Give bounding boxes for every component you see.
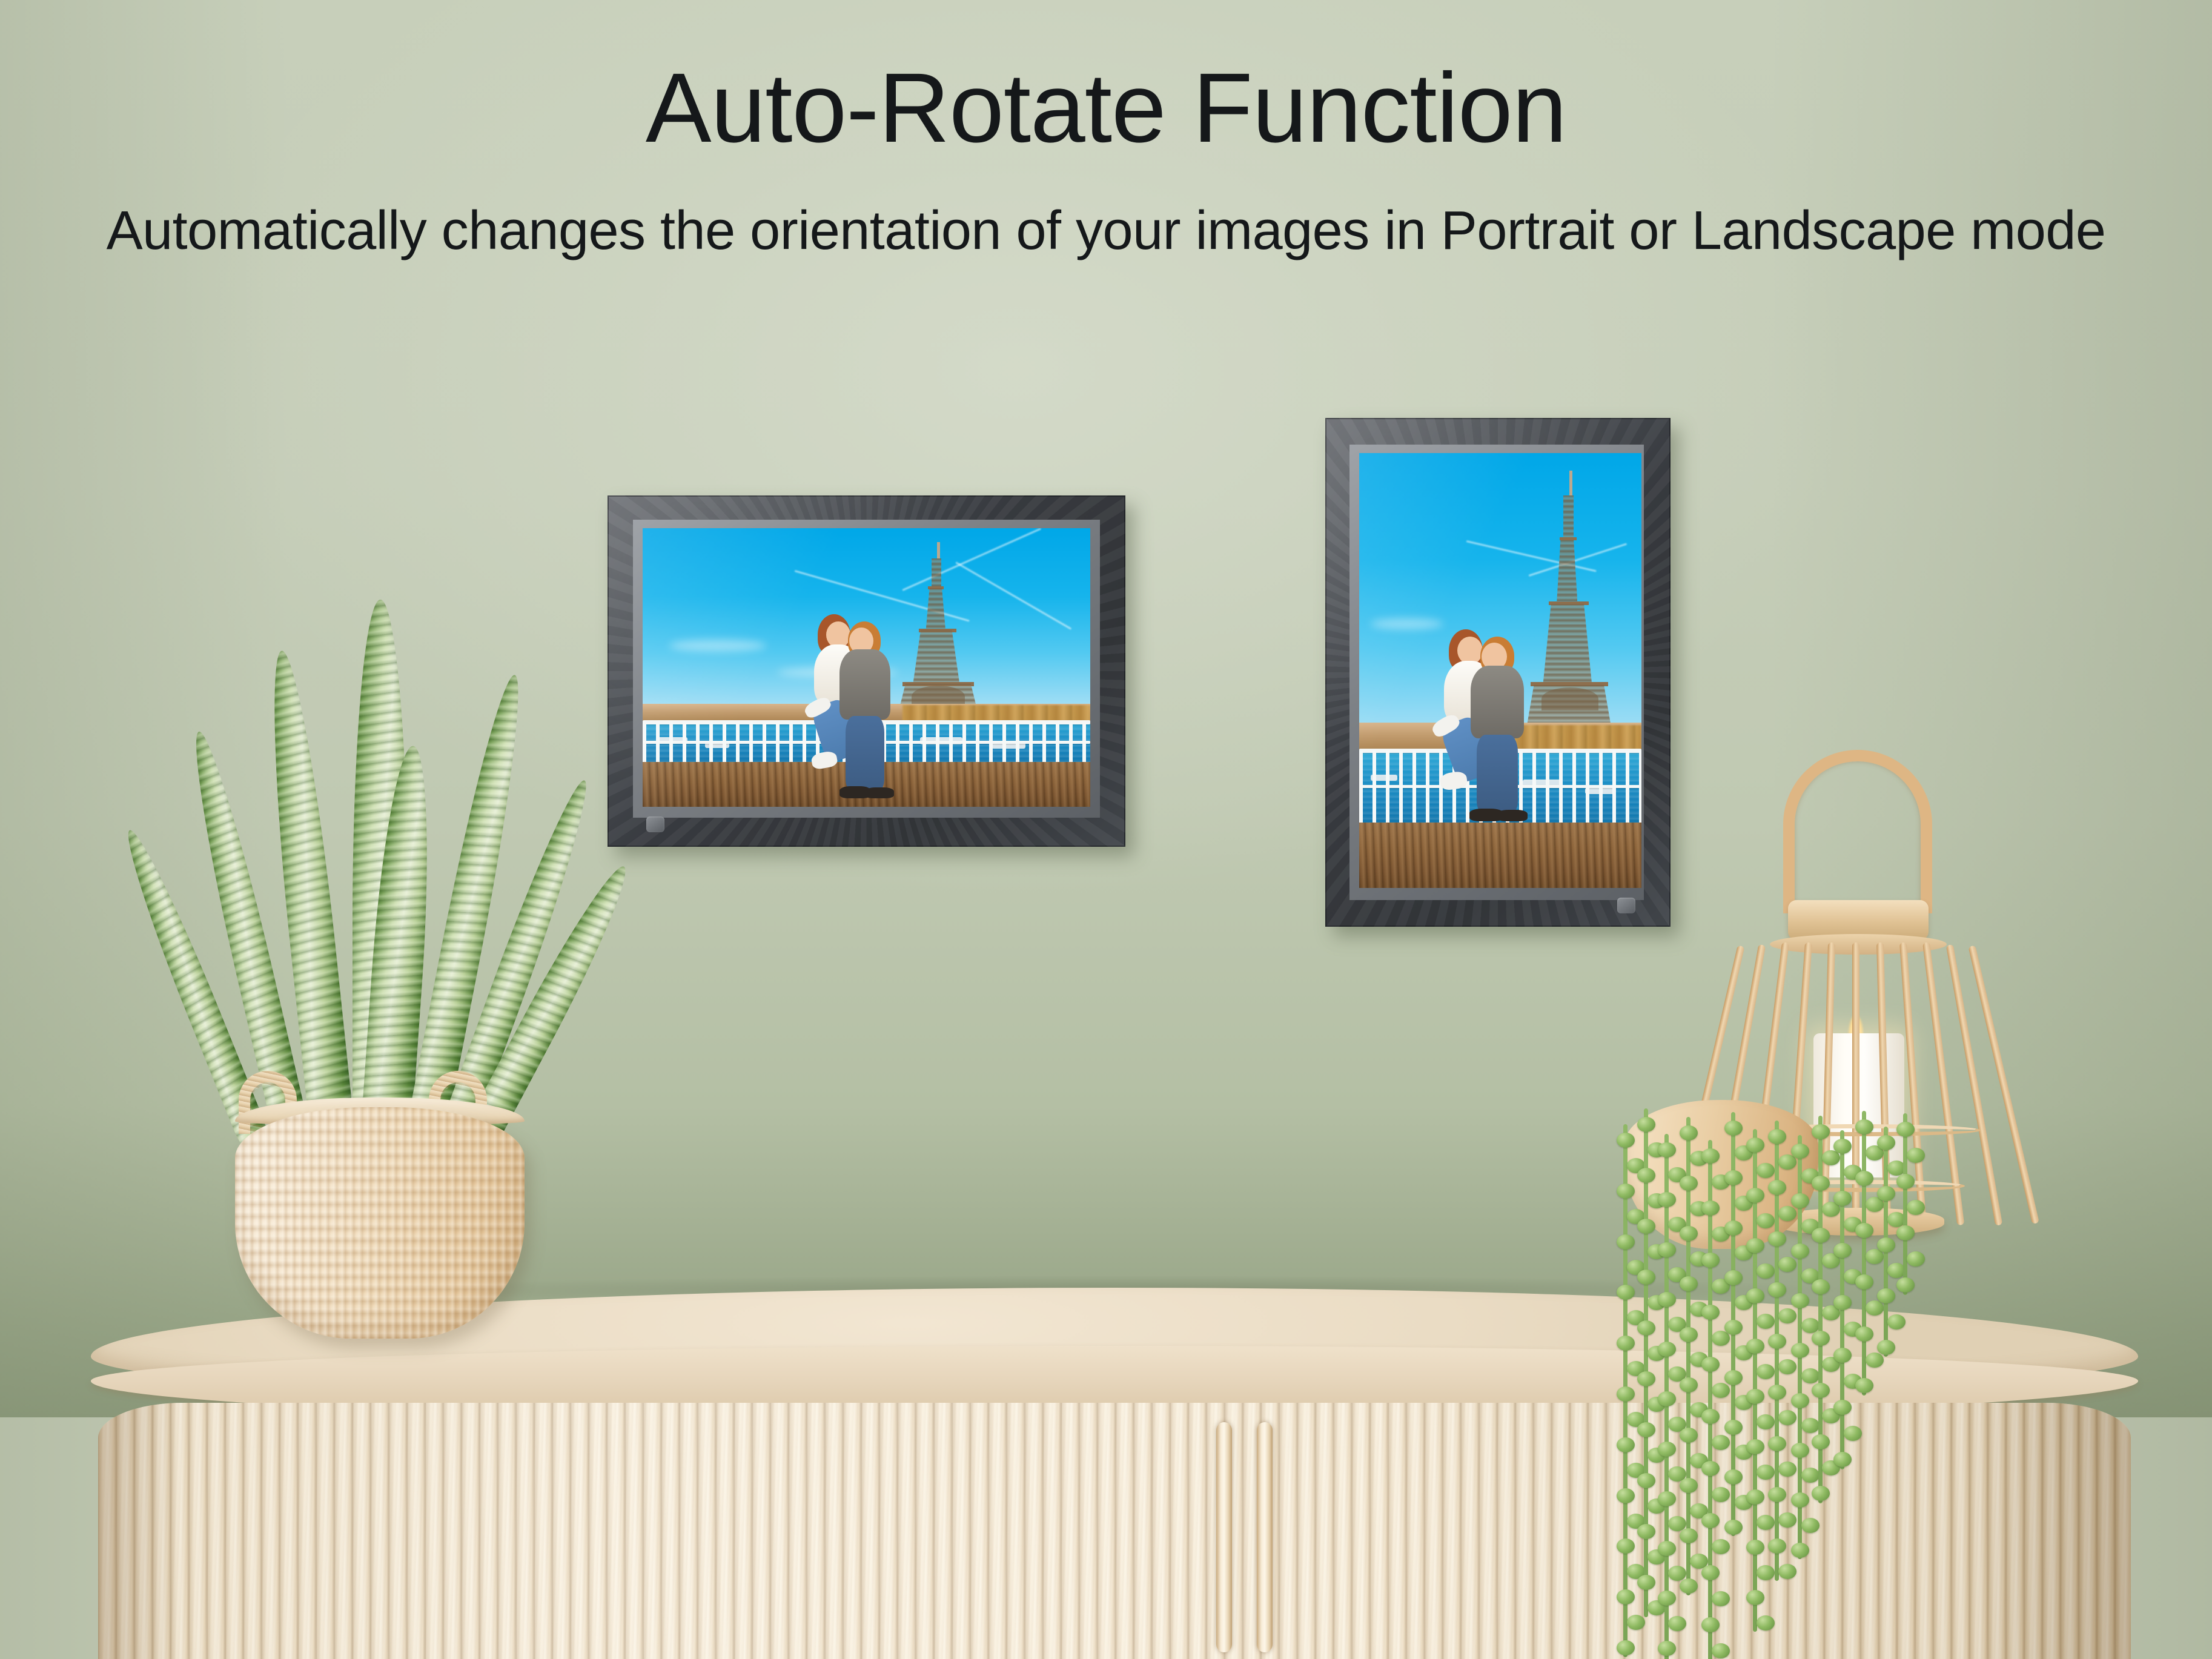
pearl-leaf — [1724, 1270, 1743, 1285]
pearl-leaf — [1778, 1462, 1796, 1477]
snake-plant — [204, 527, 567, 1339]
pearl-leaf — [1637, 1168, 1655, 1183]
pearl-leaf — [1855, 1326, 1873, 1342]
pearl-leaf — [1833, 1243, 1852, 1258]
pearl-leaf — [1778, 1359, 1796, 1374]
pearl-leaf — [1791, 1443, 1809, 1458]
pearl-leaf — [1746, 1288, 1764, 1303]
pearl-leaf — [1812, 1176, 1830, 1191]
pearl-leaf — [1896, 1174, 1915, 1189]
pearl-leaf — [1896, 1225, 1915, 1240]
pearl-leaf — [1844, 1426, 1862, 1441]
pearl-leaf — [1907, 1200, 1925, 1215]
pearl-leaf — [1617, 1184, 1635, 1199]
pearl-leaf — [1746, 1590, 1764, 1605]
pearl-strand — [1644, 1108, 1648, 1617]
pearl-leaf — [1617, 1386, 1635, 1402]
pearl-leaf — [1746, 1238, 1764, 1253]
pearl-leaf — [1617, 1336, 1635, 1351]
pearl-leaf — [1701, 1200, 1720, 1216]
pearl-strand — [1753, 1129, 1757, 1632]
pearl-leaf — [1701, 1617, 1720, 1632]
pearl-leaf — [1778, 1257, 1796, 1272]
pearl-leaf — [1658, 1491, 1676, 1506]
cabinet-handle-right[interactable] — [1257, 1422, 1273, 1652]
pearl-leaf — [1680, 1428, 1698, 1443]
pearl-leaf — [1866, 1353, 1884, 1368]
pearl-leaf — [1680, 1276, 1698, 1291]
pearl-leaf — [1855, 1274, 1873, 1290]
digital-photo-frame-portrait[interactable] — [1325, 418, 1671, 927]
pearl-leaf — [1801, 1468, 1820, 1483]
pearl-leaf — [1627, 1615, 1645, 1630]
pearl-leaf — [1637, 1320, 1655, 1336]
pearl-leaf — [1712, 1487, 1730, 1502]
pearl-leaf — [1768, 1538, 1786, 1554]
pearl-leaf — [1877, 1135, 1895, 1150]
string-of-pearls-plant — [1618, 1100, 2006, 1659]
pearl-leaf — [1680, 1528, 1698, 1543]
pearl-leaf — [1724, 1420, 1743, 1435]
pearl-leaf — [1724, 1370, 1743, 1385]
headline-block: Auto-Rotate Function Automatically chang… — [0, 0, 2212, 267]
pearl-leaf — [1757, 1414, 1775, 1429]
pearl-leaf — [1833, 1348, 1852, 1363]
pearl-leaf — [1877, 1340, 1895, 1355]
pearl-leaf — [1866, 1300, 1884, 1316]
pearl-leaf — [1768, 1231, 1786, 1247]
pearl-leaf — [1617, 1488, 1635, 1503]
pearl-leaf — [1617, 1437, 1635, 1452]
pearl-leaf — [1896, 1122, 1915, 1137]
pearl-leaf — [1855, 1378, 1873, 1393]
pearl-leaf — [1791, 1393, 1809, 1408]
pearl-leaf — [1658, 1242, 1676, 1257]
pearl-leaf — [1658, 1541, 1676, 1556]
pearl-leaf — [1877, 1186, 1895, 1201]
pearl-leaf — [1617, 1640, 1635, 1655]
pearl-leaf — [1724, 1520, 1743, 1535]
pearl-leaf — [1757, 1314, 1775, 1329]
pearl-leaf — [1801, 1368, 1820, 1383]
photo-portrait — [1359, 453, 1641, 888]
page-subtitle: Automatically changes the orientation of… — [0, 196, 2212, 267]
pearl-leaf — [1680, 1125, 1698, 1141]
pearl-leaf — [1712, 1539, 1730, 1554]
pearl-leaf — [1712, 1383, 1730, 1398]
pearl-leaf — [1757, 1565, 1775, 1580]
pearl-leaf — [1712, 1591, 1730, 1606]
pearl-leaf — [1778, 1410, 1796, 1425]
pearl-leaf — [1757, 1364, 1775, 1379]
pearl-leaf — [1701, 1565, 1720, 1580]
page-title: Auto-Rotate Function — [0, 58, 2212, 157]
pearl-leaf — [1680, 1327, 1698, 1342]
pearl-leaf — [1658, 1391, 1676, 1406]
pearl-leaf — [1768, 1385, 1786, 1400]
pearl-strand — [1708, 1140, 1712, 1659]
pearl-leaf — [1658, 1641, 1676, 1656]
room-scene: Auto-Rotate Function Automatically chang… — [0, 0, 2212, 1659]
pearl-leaf — [1658, 1292, 1676, 1307]
pearl-leaf — [1778, 1512, 1796, 1528]
pearl-leaf — [1877, 1237, 1895, 1253]
pearl-leaf — [1746, 1439, 1764, 1454]
pearl-leaf — [1712, 1643, 1730, 1658]
pearl-leaf — [1757, 1615, 1775, 1631]
pearl-leaf — [1746, 1540, 1764, 1555]
pearl-leaf — [1746, 1137, 1764, 1153]
pearl-leaf — [1680, 1478, 1698, 1493]
pearl-leaf — [1701, 1253, 1720, 1268]
pearl-leaf — [1668, 1616, 1686, 1631]
pearl-leaf — [1724, 1121, 1743, 1136]
pearl-leaf — [1855, 1223, 1873, 1238]
pearl-leaf — [1896, 1277, 1915, 1293]
pearl-leaf — [1701, 1513, 1720, 1528]
pearl-leaf — [1637, 1270, 1655, 1285]
pearl-leaf — [1833, 1452, 1852, 1467]
pearl-leaf — [1617, 1589, 1635, 1604]
pearl-leaf — [1801, 1518, 1820, 1533]
pearl-leaf — [1768, 1334, 1786, 1349]
pearl-leaf — [1637, 1422, 1655, 1437]
pearl-leaf — [1877, 1288, 1895, 1303]
pearl-leaf — [1791, 1343, 1809, 1358]
pearl-leaf — [1680, 1377, 1698, 1392]
light-sensor-icon — [1617, 898, 1635, 913]
pearl-leaf — [1637, 1575, 1655, 1590]
screen-portrait[interactable] — [1359, 453, 1641, 888]
pearl-leaf — [1791, 1543, 1809, 1558]
pearl-leaf — [1701, 1148, 1720, 1164]
pearl-leaf — [1701, 1461, 1720, 1476]
digital-photo-frame-landscape[interactable] — [608, 495, 1125, 847]
pearl-leaf — [1658, 1591, 1676, 1606]
pearl-leaf — [1778, 1206, 1796, 1221]
pearl-leaf — [1724, 1320, 1743, 1335]
pearl-leaf — [1680, 1176, 1698, 1191]
pearl-leaf — [1757, 1213, 1775, 1228]
pearl-leaf — [1812, 1124, 1830, 1139]
pearl-leaf — [1855, 1119, 1873, 1134]
pearl-leaf — [1768, 1129, 1786, 1144]
lantern-handle — [1783, 750, 1932, 913]
pearl-leaf — [1668, 1566, 1686, 1581]
pearl-leaf — [1768, 1436, 1786, 1451]
pearl-leaf — [1746, 1339, 1764, 1354]
pearl-leaf — [1833, 1400, 1852, 1415]
pearl-leaf — [1757, 1163, 1775, 1178]
pearl-leaf — [1637, 1117, 1655, 1132]
light-sensor-icon — [646, 816, 664, 832]
pearl-leaf — [1812, 1228, 1830, 1243]
pearl-leaf — [1617, 1133, 1635, 1148]
pearl-leaf — [1833, 1139, 1852, 1154]
pearl-leaf — [1812, 1486, 1830, 1501]
pearl-leaf — [1757, 1515, 1775, 1530]
pearl-leaf — [1757, 1263, 1775, 1279]
pearl-leaf — [1778, 1564, 1796, 1579]
pearl-leaf — [1801, 1418, 1820, 1433]
pearl-leaf — [1680, 1578, 1698, 1594]
pearl-leaf — [1712, 1435, 1730, 1450]
pearl-leaf — [1812, 1279, 1830, 1294]
photo-landscape — [643, 528, 1090, 807]
pearl-leaf — [1746, 1389, 1764, 1404]
pearl-leaf — [1791, 1243, 1809, 1259]
pearl-leaf — [1701, 1305, 1720, 1320]
pearl-leaf — [1907, 1251, 1925, 1267]
pearl-leaf — [1701, 1357, 1720, 1372]
pearl-leaf — [1791, 1492, 1809, 1508]
pearl-leaf — [1768, 1282, 1786, 1297]
pearl-leaf — [1855, 1171, 1873, 1186]
pearl-leaf — [1833, 1191, 1852, 1206]
pearl-leaf — [1637, 1473, 1655, 1488]
pearl-leaf — [1617, 1538, 1635, 1554]
pearl-leaf — [1757, 1465, 1775, 1480]
pearl-leaf — [1812, 1383, 1830, 1398]
pearl-leaf — [1658, 1342, 1676, 1357]
pearl-leaf — [1658, 1442, 1676, 1457]
pearl-strand — [1903, 1113, 1907, 1295]
pearl-leaf — [1768, 1487, 1786, 1502]
pearl-leaf — [1637, 1219, 1655, 1234]
pearl-leaf — [1907, 1148, 1925, 1163]
pearl-leaf — [1724, 1469, 1743, 1485]
pearl-leaf — [1617, 1234, 1635, 1250]
pearl-leaf — [1833, 1295, 1852, 1310]
woven-basket — [235, 1107, 525, 1339]
pearl-leaf — [1617, 1285, 1635, 1300]
pearl-leaf — [1746, 1188, 1764, 1203]
pearl-leaf — [1637, 1524, 1655, 1539]
pearl-leaf — [1812, 1331, 1830, 1346]
pearl-leaf — [1791, 1293, 1809, 1308]
pearl-leaf — [1887, 1314, 1906, 1330]
pearl-leaf — [1637, 1371, 1655, 1386]
pearl-leaf — [1701, 1409, 1720, 1424]
cabinet-handle-left[interactable] — [1216, 1422, 1232, 1652]
pearl-leaf — [1791, 1144, 1809, 1159]
pearl-leaf — [1746, 1489, 1764, 1505]
pearl-leaf — [1778, 1308, 1796, 1323]
pearl-leaf — [1658, 1142, 1676, 1157]
pearl-leaf — [1812, 1434, 1830, 1449]
screen-landscape[interactable] — [643, 528, 1090, 807]
pearl-leaf — [1724, 1220, 1743, 1236]
